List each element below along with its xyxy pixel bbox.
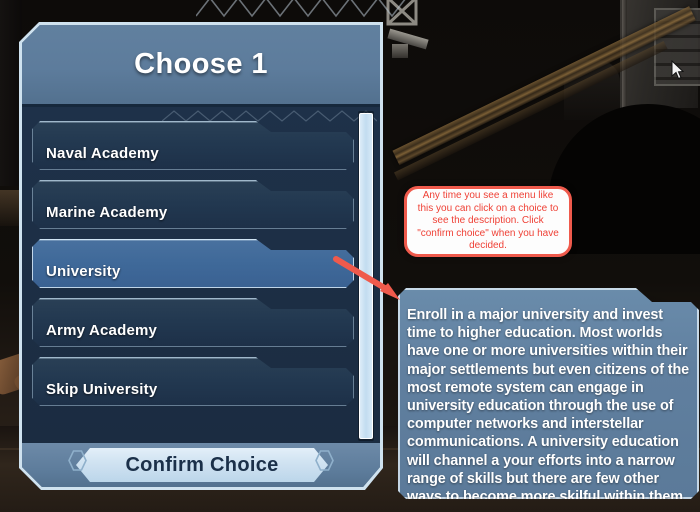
description-text: Enroll in a major university and invest … [407,306,695,512]
option-label: University [46,263,121,280]
option-marine-academy[interactable]: Marine Academy [32,180,354,229]
background-truss-box [392,44,408,58]
hexagon-icon-left [68,450,87,471]
choice-menu-body: Choose 1 Naval Academy [22,25,380,487]
option-label: Skip University [46,381,157,398]
game-screen: Choose 1 Naval Academy [0,0,700,512]
choice-menu-header: Choose 1 [22,25,380,104]
choice-menu-panel: Choose 1 Naval Academy [19,22,383,490]
confirm-choice-label: Confirm Choice [125,454,278,477]
scrollbar-thumb[interactable] [359,113,373,439]
page-title: Choose 1 [134,48,268,81]
option-university[interactable]: University [32,239,354,288]
option-label: Naval Academy [46,145,159,162]
option-skip-university[interactable]: Skip University [32,357,354,406]
tutorial-tooltip-text: Any time you see a menu like this you ca… [407,190,569,252]
tutorial-tooltip: Any time you see a menu like this you ca… [404,186,572,257]
background-pillar-left [0,0,22,186]
background-zigzag-truss [196,0,406,18]
choice-menu-footer: Confirm Choice [22,443,380,487]
option-naval-academy[interactable]: Naval Academy [32,121,354,170]
description-panel: Enroll in a major university and invest … [398,288,699,499]
confirm-choice-button[interactable]: Confirm Choice [76,448,328,482]
option-list-area: Naval Academy Marine Academy University … [22,107,380,443]
option-label: Army Academy [46,322,157,339]
option-list: Naval Academy Marine Academy University … [32,121,354,416]
option-label: Marine Academy [46,204,167,221]
hexagon-icon-right [315,450,334,471]
option-army-academy[interactable]: Army Academy [32,298,354,347]
